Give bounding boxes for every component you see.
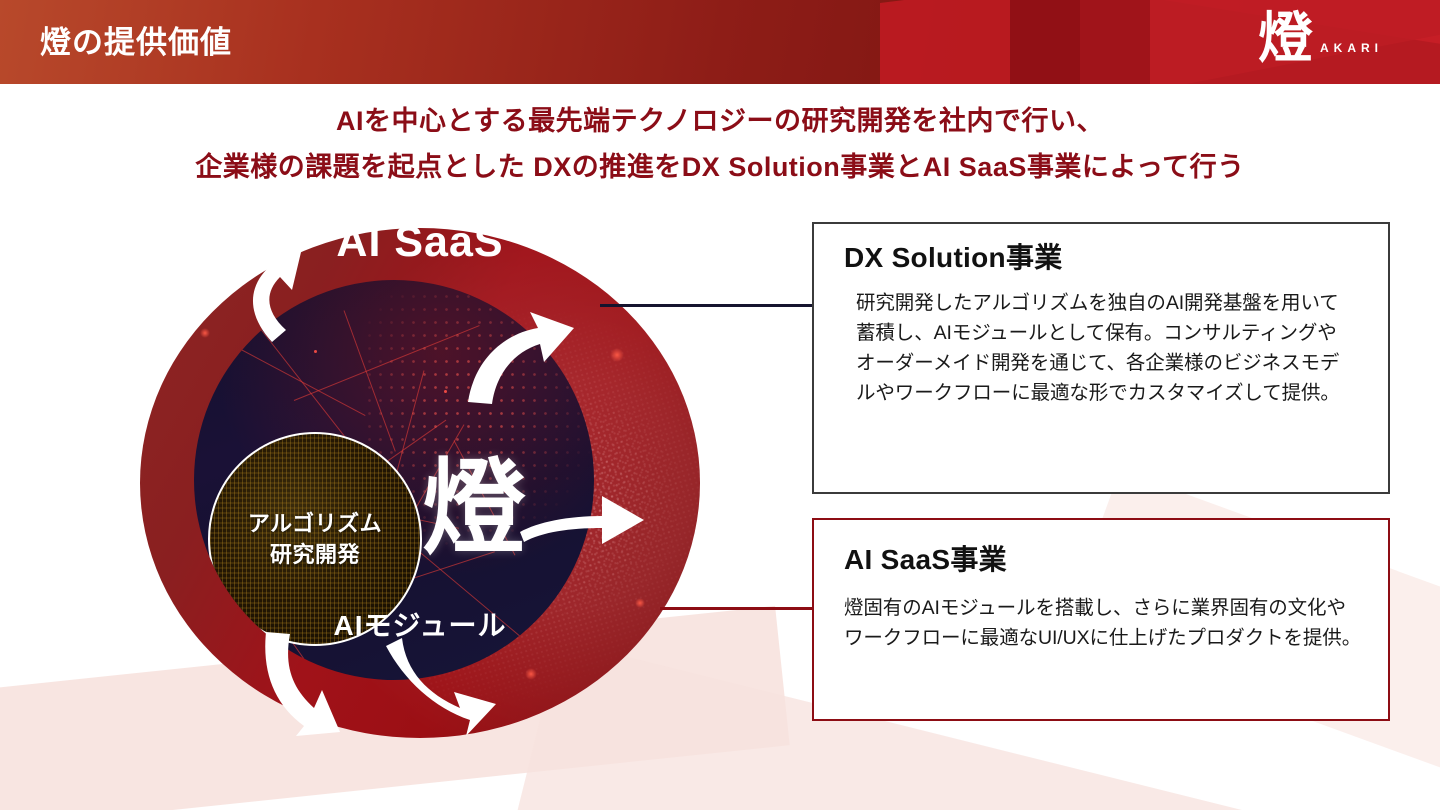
card-dx-solution[interactable]: DX Solution事業 研究開発したアルゴリズムを独自のAI開発基盤を用いて… xyxy=(812,222,1390,494)
kanji-watermark-icon: 燈 xyxy=(422,458,526,562)
arrow-right-icon xyxy=(518,480,648,550)
header-bar: 燈の提供価値 燈 AKARI xyxy=(0,0,1440,84)
subtitle-line-1: AIを中心とする最先端テクノロジーの研究開発を社内で行い、 xyxy=(336,106,1104,136)
core-label-line-1: アルゴリズム xyxy=(210,508,420,539)
logo-kanji-icon: 燈 xyxy=(1258,6,1313,72)
arrow-up-right-icon xyxy=(460,306,580,411)
arrow-up-left-icon xyxy=(240,246,330,346)
card-title-dx-solution: DX Solution事業 xyxy=(844,236,1063,276)
card-title-ai-saas: AI SaaS事業 xyxy=(844,538,1007,578)
connector-dx-solution xyxy=(600,304,814,307)
ring-spark xyxy=(525,668,537,680)
label-ai-saas: AI SaaS xyxy=(140,218,700,267)
core-label: アルゴリズム 研究開発 xyxy=(210,508,420,570)
page-title: 燈の提供価値 xyxy=(40,17,232,62)
network-node xyxy=(314,350,317,353)
subtitle-line-2: 企業様の課題を起点とした DXの推進をDX Solution事業とAI SaaS… xyxy=(0,144,1440,190)
card-body-dx-solution: 研究開発したアルゴリズムを独自のAI開発基盤を用いて蓄積し、AIモジュールとして… xyxy=(856,288,1356,408)
ring-spark xyxy=(200,328,210,338)
core-label-line-2: 研究開発 xyxy=(210,539,420,570)
subtitle: AIを中心とする最先端テクノロジーの研究開発を社内で行い、 企業様の課題を起点と… xyxy=(0,98,1440,190)
arrow-down-left-icon xyxy=(248,628,348,738)
ring-spark xyxy=(610,348,624,362)
brand-logo: 燈 AKARI xyxy=(1258,8,1408,76)
slide: 燈の提供価値 燈 AKARI AIを中心とする最先端テクノロジーの研究開発を社内… xyxy=(0,0,1440,810)
card-ai-saas[interactable]: AI SaaS事業 燈固有のAIモジュールを搭載し、さらに業界固有の文化やワーク… xyxy=(812,518,1390,721)
arrow-down-right-icon xyxy=(380,636,500,746)
card-body-ai-saas: 燈固有のAIモジュールを搭載し、さらに業界固有の文化やワークフローに最適なUI/… xyxy=(844,593,1364,653)
logo-wordmark: AKARI xyxy=(1320,41,1383,55)
network-line xyxy=(224,340,366,416)
